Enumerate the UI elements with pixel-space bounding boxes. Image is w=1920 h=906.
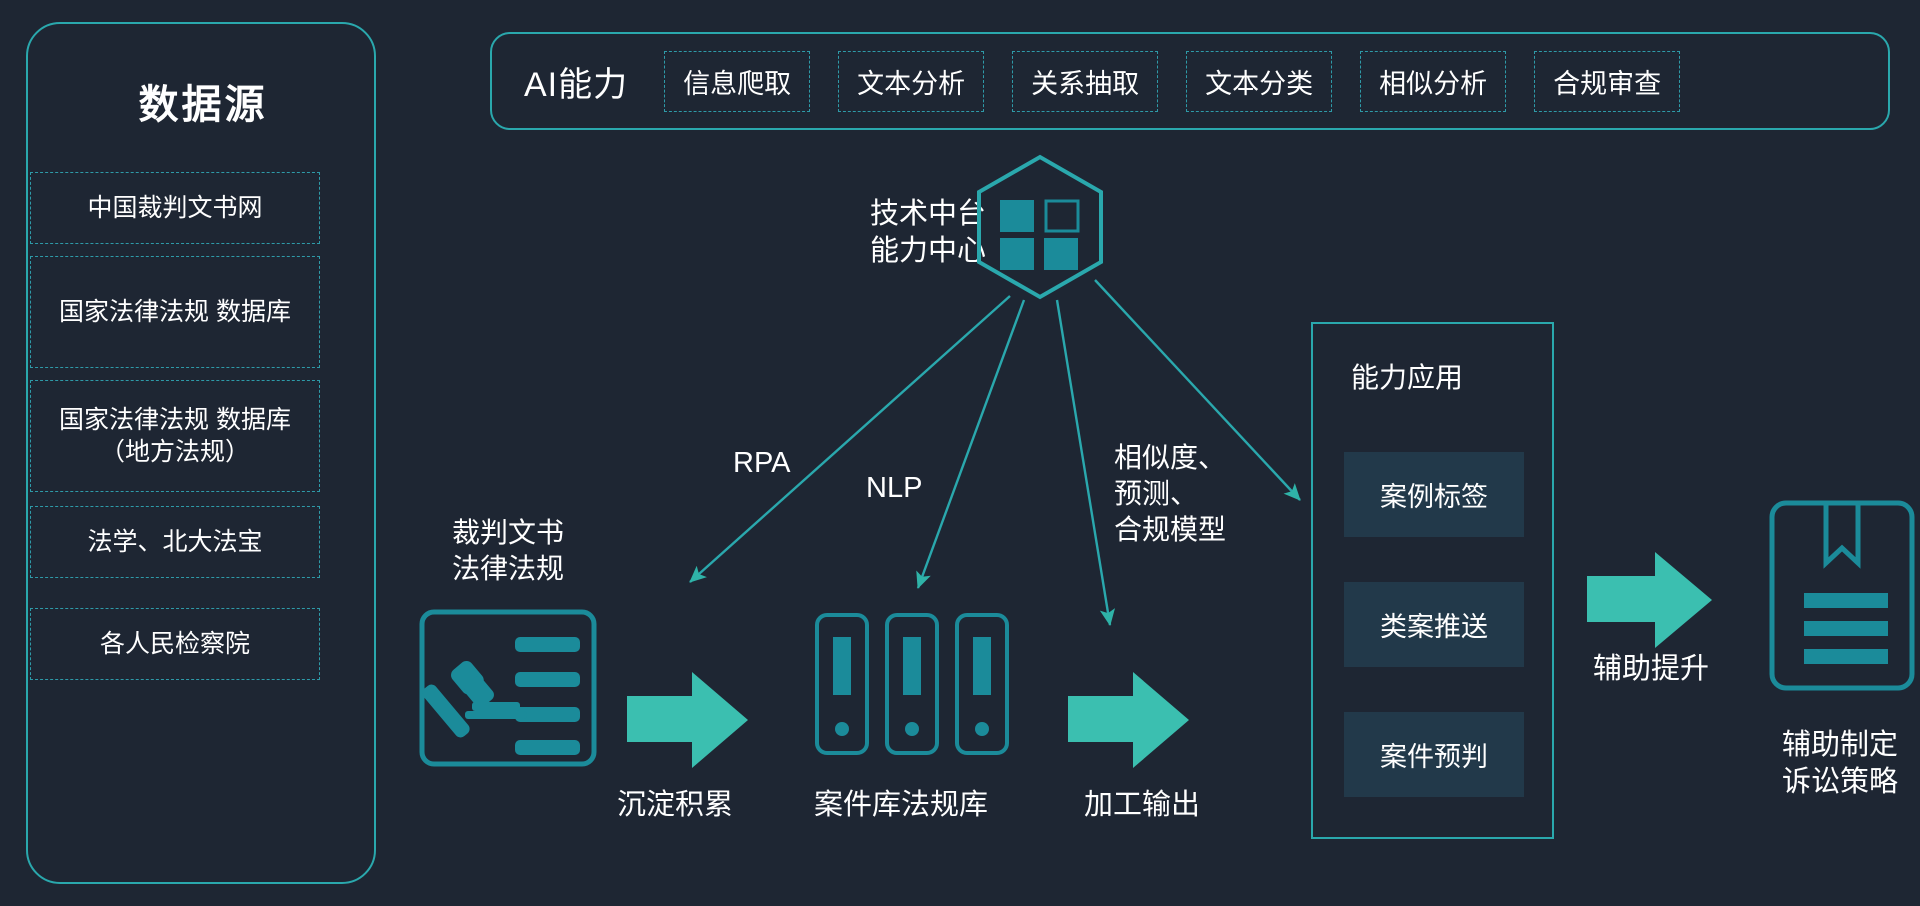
data-source-item-label: 中国裁判文书网 bbox=[81, 192, 268, 225]
connector-rpa bbox=[690, 296, 1010, 582]
hub-label: 技术中台 能力中心 bbox=[838, 196, 1018, 270]
connector-label-nlp: NLP bbox=[866, 470, 922, 507]
capability-item-1[interactable]: 类案推送 bbox=[1344, 582, 1524, 667]
connector-label-rpa: RPA bbox=[733, 445, 790, 482]
arrow3-label: 辅助提升 bbox=[1593, 651, 1709, 688]
data-source-item-4[interactable]: 各人民检察院 bbox=[30, 608, 320, 680]
connector-label-model: 相似度、 预测、 合规模型 bbox=[1114, 440, 1226, 547]
capability-panel-title: 能力应用 bbox=[1351, 356, 1463, 396]
data-source-item-0[interactable]: 中国裁判文书网 bbox=[30, 172, 320, 244]
ai-chip-3[interactable]: 文本分类 bbox=[1186, 51, 1332, 112]
bookmarked-document-icon bbox=[1772, 503, 1912, 688]
stage1-label: 裁判文书 法律法规 bbox=[418, 515, 598, 587]
data-source-item-label: 国家法律法规 数据库（地方法规） bbox=[31, 404, 319, 469]
ai-chip-0[interactable]: 信息爬取 bbox=[664, 51, 810, 112]
data-source-item-label: 各人民检察院 bbox=[94, 628, 256, 661]
data-source-item-3[interactable]: 法学、北大法宝 bbox=[30, 506, 320, 578]
server-racks-icon bbox=[817, 615, 1007, 753]
diagram-canvas: 数据源 中国裁判文书网 国家法律法规 数据库 国家法律法规 数据库（地方法规） … bbox=[0, 0, 1920, 906]
flow-arrow-3 bbox=[1587, 552, 1712, 648]
ai-capability-title: AI能力 bbox=[524, 57, 628, 106]
stage2-label: 案件库法规库 bbox=[814, 787, 988, 824]
capability-item-0[interactable]: 案例标签 bbox=[1344, 452, 1524, 537]
capability-item-2[interactable]: 案件预判 bbox=[1344, 712, 1524, 797]
connector-nlp bbox=[918, 300, 1024, 588]
ai-capability-bar: AI能力 信息爬取 文本分析 关系抽取 文本分类 相似分析 合规审查 bbox=[490, 32, 1890, 130]
data-source-item-1[interactable]: 国家法律法规 数据库 bbox=[30, 256, 320, 368]
arrow1-label: 沉淀积累 bbox=[617, 787, 733, 824]
ai-chip-2[interactable]: 关系抽取 bbox=[1012, 51, 1158, 112]
capability-application-panel: 能力应用 案例标签 类案推送 案件预判 bbox=[1311, 322, 1554, 839]
data-source-item-2[interactable]: 国家法律法规 数据库（地方法规） bbox=[30, 380, 320, 492]
connector-model bbox=[1057, 300, 1110, 625]
arrow2-label: 加工输出 bbox=[1084, 787, 1200, 824]
data-source-title: 数据源 bbox=[28, 72, 378, 130]
gavel-document-icon bbox=[420, 612, 594, 764]
ai-chip-5[interactable]: 合规审查 bbox=[1534, 51, 1680, 112]
flow-arrow-2 bbox=[1068, 672, 1189, 768]
output-label: 辅助制定 诉讼策略 bbox=[1745, 727, 1920, 801]
flow-arrow-1 bbox=[627, 672, 748, 768]
data-source-item-label: 法学、北大法宝 bbox=[81, 526, 268, 559]
data-source-item-label: 国家法律法规 数据库 bbox=[53, 296, 297, 329]
ai-chip-4[interactable]: 相似分析 bbox=[1360, 51, 1506, 112]
ai-chip-1[interactable]: 文本分析 bbox=[838, 51, 984, 112]
